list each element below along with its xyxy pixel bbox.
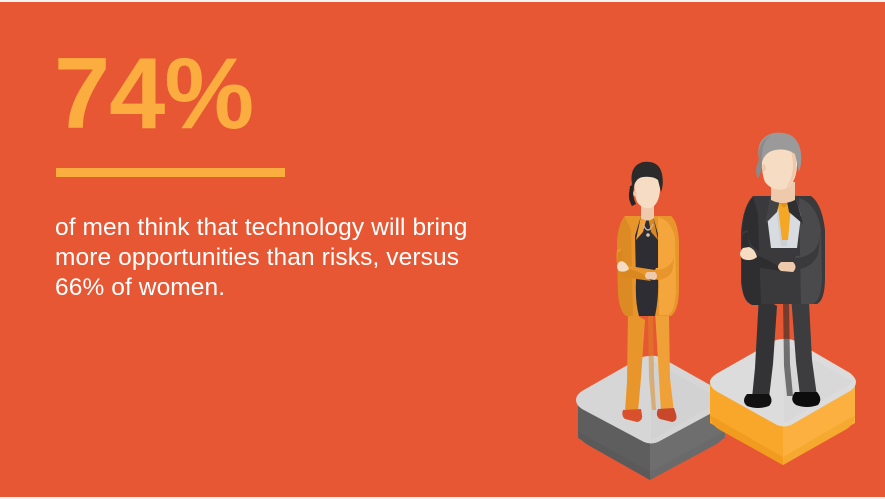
stat-percentage: 74% — [54, 44, 253, 145]
stat-description-text: of men think that technology will bring … — [55, 213, 495, 303]
stat-divider-rule — [56, 168, 285, 177]
man-left-shoe — [744, 394, 772, 408]
man-right-shoe — [792, 392, 820, 407]
podium-illustration — [555, 120, 885, 490]
top-edge-rule — [0, 0, 885, 2]
yellow-podium — [710, 339, 856, 465]
infographic-slide: 74% of men think that technology will br… — [0, 0, 885, 499]
